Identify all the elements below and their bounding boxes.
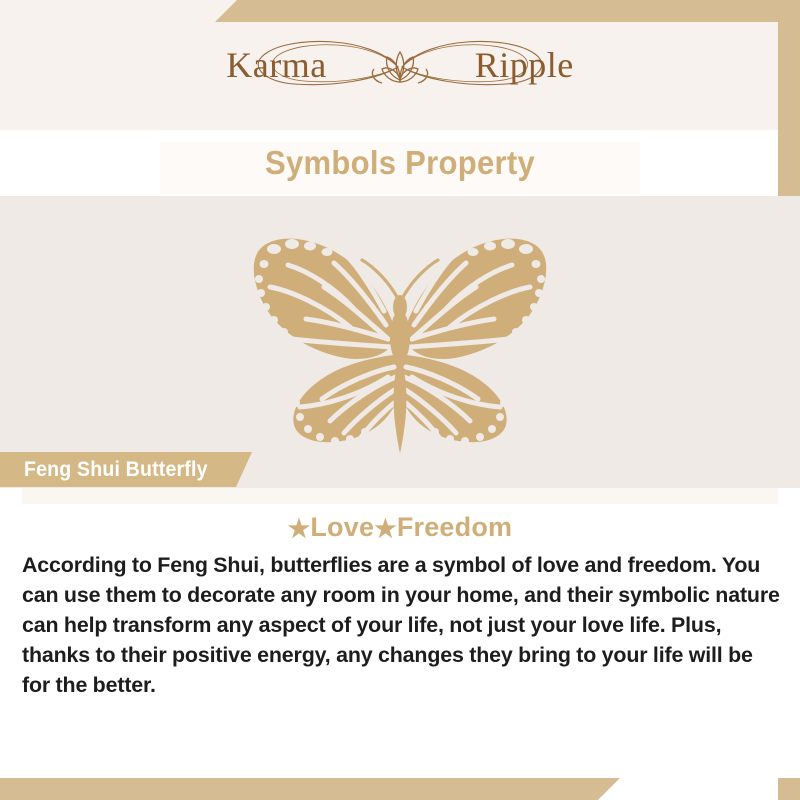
lotus-infinity-icon bbox=[190, 38, 610, 96]
brand-logo bbox=[0, 38, 800, 96]
monarch-butterfly-icon bbox=[230, 227, 570, 457]
star-icon-left: ★ bbox=[288, 515, 311, 543]
subheading-word-love: Love bbox=[310, 512, 374, 542]
hero-panel bbox=[0, 196, 800, 488]
feng-shui-banner-label: Feng Shui Butterfly bbox=[24, 458, 208, 482]
star-icon-middle: ★ bbox=[374, 515, 397, 543]
promo-graphic-page: KarmaRipple Symbols Property bbox=[0, 0, 800, 800]
body-paragraph: According to Feng Shui, butterflies are … bbox=[22, 550, 782, 700]
subheading-word-freedom: Freedom bbox=[397, 512, 512, 542]
page-title: Symbols Property bbox=[24, 144, 776, 182]
content-subheading: ★Love★Freedom bbox=[0, 512, 800, 543]
frame-band-top bbox=[215, 0, 800, 22]
content-top-tint bbox=[22, 488, 778, 504]
frame-band-bottom bbox=[0, 778, 620, 800]
